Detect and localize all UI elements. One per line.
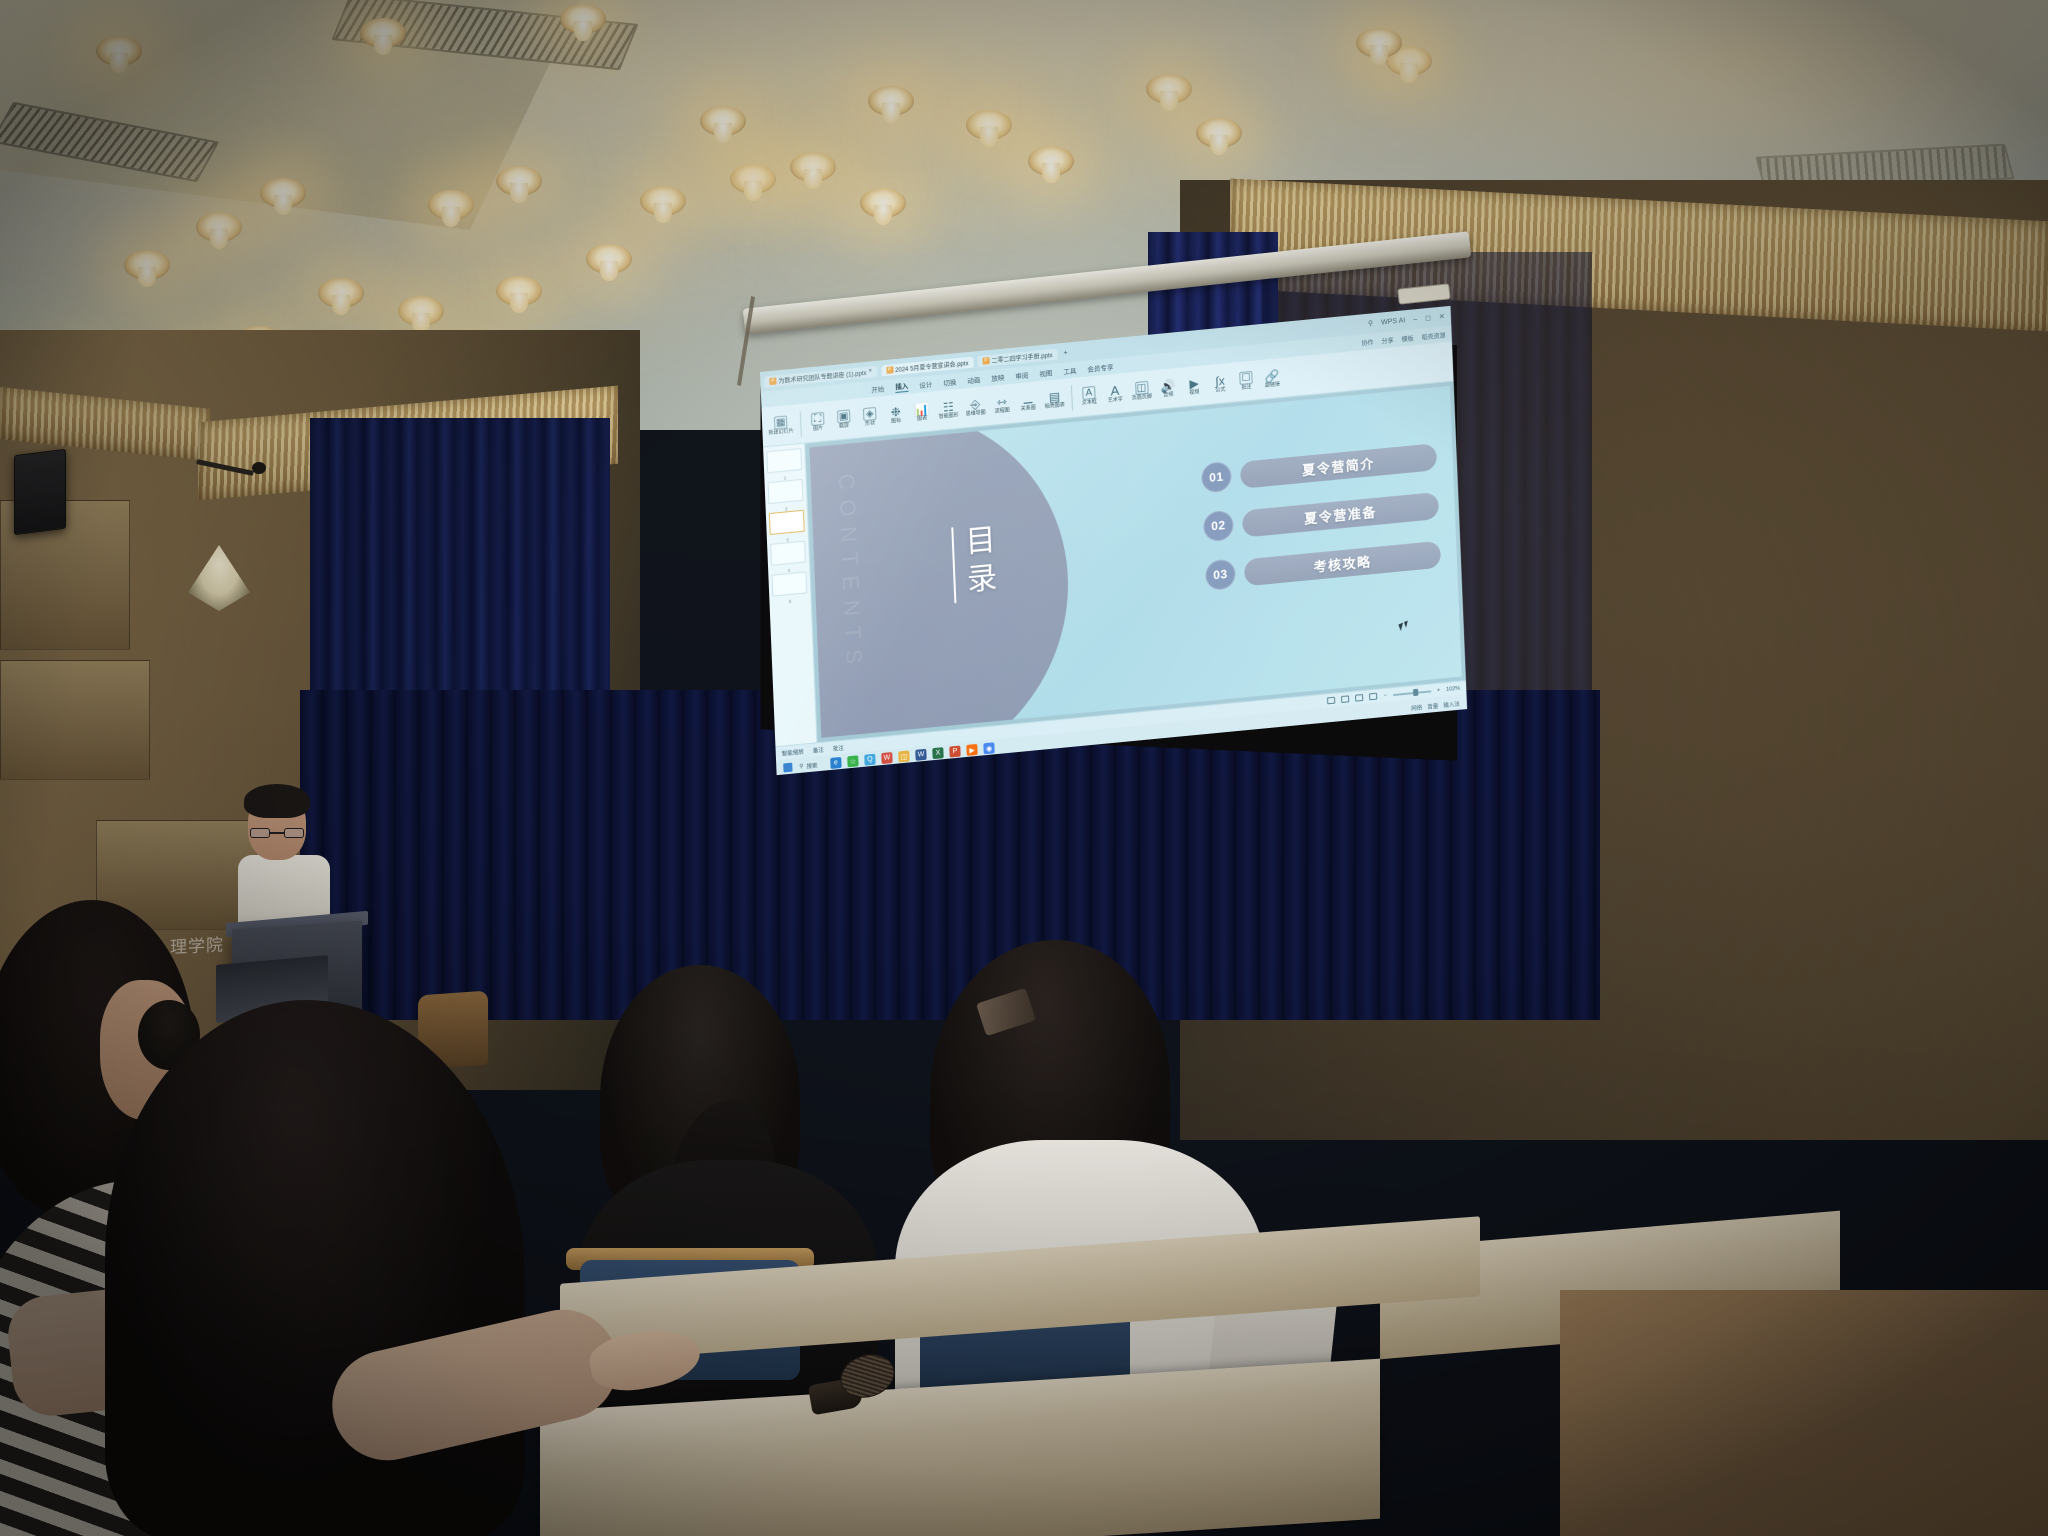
ribbon-button-chart-label: 图表 (917, 416, 927, 422)
ceiling-light (428, 190, 474, 220)
ribbon-button-smartart-label: 智能图形 (939, 413, 959, 420)
ribbon-button-smartart[interactable]: ☷ 智能图形 (938, 399, 959, 420)
speaker-hair (244, 784, 310, 818)
slide-canvas-area[interactable]: CONTENTS 目录 01 夏令营简介 02 夏令营准备 (805, 382, 1466, 743)
ribbon-tab-tools[interactable]: 工具 (1063, 365, 1076, 376)
document-tab-3-label: 二零二四学习手册.pptx (991, 349, 1052, 364)
ribbon-button-screenshot[interactable]: ▣ 截屏 (834, 409, 854, 430)
ceiling-light (1356, 28, 1402, 58)
ribbon-button-new-slide[interactable]: ▦ 新建幻灯片 (768, 415, 794, 436)
ribbon-tab-slideshow[interactable]: 放映 (991, 372, 1004, 383)
slide-title-block: 目录 (951, 524, 994, 603)
ribbon-button-textbox-label: 文本框 (1082, 400, 1097, 406)
slide-title: 目录 (961, 524, 994, 603)
ribbon-button-docer-chart[interactable]: ▤ 稻壳图表 (1044, 389, 1065, 410)
ceiling-light (360, 18, 406, 48)
ribbon-button-comment-label: 批注 (1241, 385, 1251, 391)
ribbon-button-audio-label: 音频 (1163, 392, 1173, 398)
slide-thumbnail[interactable] (770, 541, 806, 566)
ribbon-button-hyperlink[interactable]: 🔗 超链接 (1262, 368, 1282, 389)
close-icon[interactable]: ✕ (1437, 312, 1447, 321)
ribbon-button-wordart[interactable]: A 艺术字 (1105, 383, 1125, 404)
search-icon: ⚲ (799, 763, 803, 769)
ribbon-button-audio[interactable]: 🔊 音频 (1158, 378, 1178, 399)
ribbon-button-header-footer[interactable]: ◫ 页眉页脚 (1131, 380, 1152, 401)
folder-icon[interactable]: ◫ (898, 750, 909, 762)
ribbon-button-flowchart[interactable]: ⇿ 流程图 (992, 394, 1012, 415)
ceiling-light (860, 188, 906, 218)
toc-item-number: 02 (1203, 510, 1234, 543)
ribbon-button-docer-chart-label: 稻壳图表 (1045, 403, 1065, 410)
slide-thumbnail[interactable] (771, 571, 807, 596)
view-normal-icon[interactable] (1327, 697, 1335, 705)
close-icon[interactable]: × (868, 368, 872, 374)
ceiling-light (560, 4, 606, 34)
floor (1560, 1290, 2048, 1536)
mouse-cursor (1398, 623, 1405, 631)
ribbon-tab-transition[interactable]: 切换 (943, 376, 956, 387)
ribbon-button-formula-label: 公式 (1215, 387, 1225, 393)
ribbon-tab-design[interactable]: 设计 (919, 379, 932, 390)
slide-toc-list: 01 夏令营简介 02 夏令营准备 03 考核攻略 (1201, 441, 1441, 591)
ceiling-light (496, 166, 542, 196)
slide-toc[interactable]: CONTENTS 目录 01 夏令营简介 02 夏令营准备 (809, 386, 1461, 738)
collaborate-button[interactable]: 协作 (1361, 337, 1373, 347)
comments-button[interactable]: 批注 (833, 743, 844, 752)
ribbon-button-relation-label: 关系图 (1021, 406, 1036, 412)
word-icon[interactable]: W (915, 749, 926, 761)
template-button[interactable]: 模板 (1401, 333, 1413, 343)
excel-icon[interactable]: X (932, 747, 943, 759)
ribbon-tab-insert[interactable]: 插入 (895, 380, 909, 393)
ceiling-light (640, 186, 686, 216)
taskbar-search-label: 搜索 (806, 761, 817, 770)
toc-item-number: 03 (1205, 558, 1236, 591)
ribbon-tab-home[interactable]: 开始 (871, 383, 884, 394)
ribbon-button-flowchart-label: 流程图 (995, 408, 1010, 414)
wps-icon[interactable]: W (881, 752, 892, 764)
lecture-hall-photo: P 为数术研究团队专题讲座 (1).pptx × P 2024 5月夏令营宣讲会… (0, 0, 2048, 1536)
pptx-file-icon: P (886, 366, 893, 374)
ceiling-light (398, 296, 444, 326)
ceiling-light (966, 110, 1012, 140)
ceiling-light (700, 106, 746, 136)
ribbon-tab-member[interactable]: 会员专享 (1087, 361, 1113, 373)
view-slideshow-icon[interactable] (1369, 693, 1377, 701)
ribbon-button-shape-label: 形状 (865, 421, 875, 427)
ribbon-button-icon-library-label: 图标 (891, 418, 901, 424)
maximize-icon[interactable]: ◻ (1423, 314, 1433, 323)
ribbon-button-new-slide-label: 新建幻灯片 (768, 429, 793, 436)
network-icon[interactable]: 网络 (1411, 703, 1422, 712)
ceiling-light (496, 276, 542, 306)
ribbon-button-shape[interactable]: ◈ 形状 (860, 407, 880, 428)
wechat-icon[interactable]: ☆ (847, 755, 858, 767)
ribbon-button-picture[interactable]: ⛶ 图片 (808, 412, 828, 433)
edge-icon[interactable]: e (830, 757, 841, 769)
ribbon-button-hyperlink-label: 超链接 (1265, 382, 1280, 388)
taskbar-search[interactable]: ⚲ 搜索 (799, 761, 817, 771)
docer-resources-button[interactable]: 稻壳资源 (1421, 330, 1445, 341)
ceiling-light (96, 36, 142, 66)
slide-thumbnail[interactable] (766, 448, 802, 473)
ribbon-button-mindmap[interactable]: ⎆ 思维导图 (965, 396, 986, 417)
notes-button[interactable]: 备注 (813, 745, 824, 754)
sconce-knob (252, 462, 266, 474)
toc-item-label: 考核攻略 (1244, 540, 1441, 586)
ime-icon[interactable]: 输入法 (1443, 699, 1460, 709)
handheld-microphone (810, 1355, 890, 1417)
toc-item[interactable]: 02 夏令营准备 (1203, 490, 1439, 542)
ceiling-light (1146, 74, 1192, 104)
toc-item-number: 01 (1201, 461, 1232, 494)
zoom-out-icon[interactable]: − (1384, 692, 1387, 698)
search-icon[interactable]: ⚲ (1366, 319, 1375, 328)
share-button[interactable]: 分享 (1381, 335, 1393, 345)
ceiling-light (1028, 146, 1074, 176)
ribbon-button-video-label: 视频 (1189, 390, 1199, 396)
zoom-in-icon[interactable]: + (1437, 687, 1440, 693)
document-tab-2-label: 2024 5月夏令营宣讲会.pptx (895, 358, 969, 374)
ribbon-button-icon-library[interactable]: ❉ 图标 (886, 404, 906, 425)
windows-start-icon[interactable] (783, 763, 792, 773)
slide-thumbnail-number: 5 (772, 597, 807, 605)
wood-wall-panel (0, 660, 150, 780)
ribbon-separator (1071, 385, 1073, 411)
view-reading-icon[interactable] (1355, 694, 1363, 702)
toc-item-label: 夏令营简介 (1240, 443, 1437, 489)
ribbon-button-video[interactable]: ▶ 视频 (1184, 376, 1204, 397)
zoom-level-label[interactable]: 102% (1446, 685, 1460, 692)
smart-zoom-button[interactable]: 智能缩放 (782, 747, 804, 757)
ribbon-tab-view[interactable]: 视图 (1039, 367, 1052, 378)
ppt-icon[interactable]: P (949, 746, 960, 758)
ceiling-light (260, 178, 306, 208)
ribbon-button-formula[interactable]: ∫x 公式 (1210, 373, 1230, 394)
ceiling-light (730, 164, 776, 194)
chrome-icon[interactable]: ◉ (983, 742, 994, 754)
ribbon-button-screenshot-label: 截屏 (839, 423, 849, 429)
ribbon-button-comment[interactable]: ☐ 批注 (1236, 371, 1256, 392)
ceiling-light (868, 86, 914, 116)
ribbon-separator (800, 411, 802, 437)
pptx-file-icon: P (769, 377, 776, 385)
projected-wps-window[interactable]: P 为数术研究团队专题讲座 (1).pptx × P 2024 5月夏令营宣讲会… (760, 306, 1467, 775)
ribbon-button-mindmap-label: 思维导图 (966, 410, 986, 417)
ribbon-button-textbox[interactable]: A 文本框 (1079, 386, 1099, 407)
toc-item[interactable]: 01 夏令营简介 (1201, 441, 1437, 493)
ceiling-light (586, 244, 632, 274)
ribbon-button-chart[interactable]: 📊 图表 (912, 402, 932, 423)
wps-ai-label[interactable]: WPS AI (1379, 317, 1407, 327)
view-sorter-icon[interactable] (1341, 695, 1349, 703)
zoom-slider[interactable] (1393, 690, 1431, 696)
ribbon-button-picture-label: 图片 (813, 426, 823, 432)
minimize-icon[interactable]: – (1411, 315, 1419, 323)
volume-icon[interactable]: 音量 (1427, 701, 1438, 710)
ceiling-light (124, 250, 170, 280)
slide-thumbnail-selected[interactable] (769, 510, 805, 535)
pptx-file-icon: P (982, 357, 989, 365)
ceiling-light (196, 212, 242, 242)
ribbon-button-relation-diagram[interactable]: ⚊ 关系图 (1018, 391, 1038, 412)
ribbon-button-header-footer-label: 页眉页脚 (1132, 394, 1152, 401)
wall-speaker (14, 449, 66, 535)
ribbon-tab-animation[interactable]: 动画 (967, 374, 980, 385)
new-tab-button[interactable]: + (1061, 349, 1069, 357)
ceiling-light (790, 152, 836, 182)
taskbar-tray: 网络 音量 输入法 (1411, 699, 1460, 712)
toc-item[interactable]: 03 考核攻略 (1205, 539, 1441, 591)
ribbon-tab-review[interactable]: 审阅 (1015, 369, 1028, 380)
ceiling-light (318, 278, 364, 308)
ceiling-light (1196, 118, 1242, 148)
speaker-glasses (250, 828, 304, 838)
player-icon[interactable]: ▶ (966, 744, 977, 756)
toc-item-label: 夏令营准备 (1242, 491, 1439, 537)
ribbon-button-wordart-label: 艺术字 (1108, 397, 1123, 403)
slide-thumbnail[interactable] (768, 479, 804, 504)
qq-icon[interactable]: Q (864, 754, 875, 766)
